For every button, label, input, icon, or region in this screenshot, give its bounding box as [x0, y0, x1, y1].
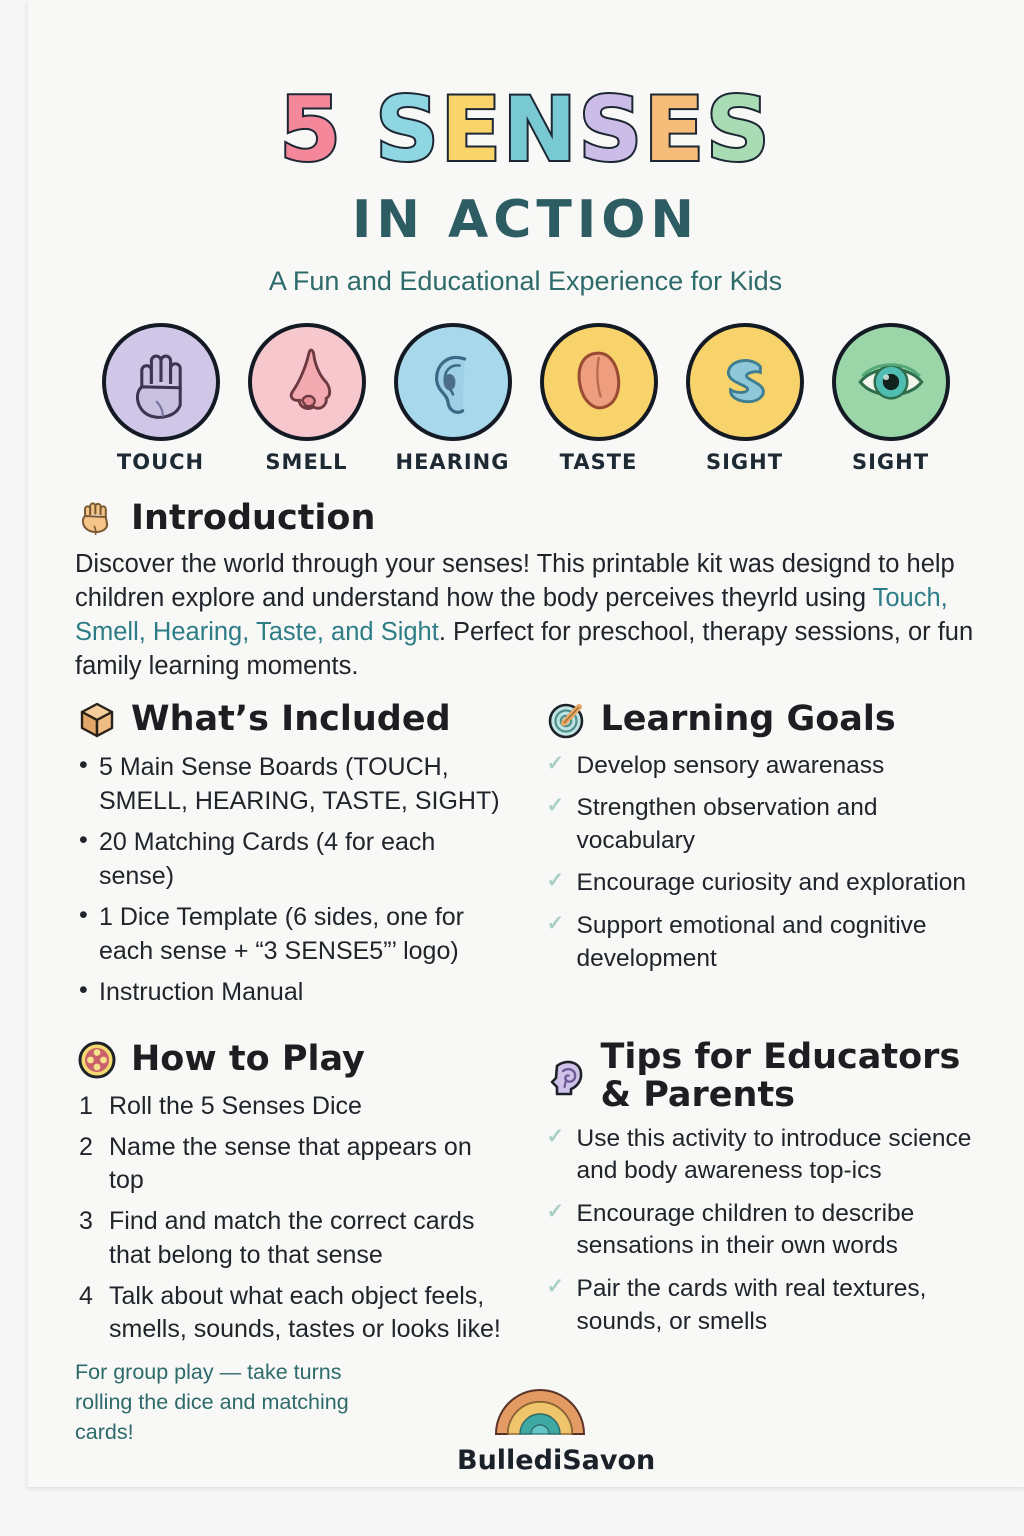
list-item: Roll the 5 Senses Dice	[75, 1090, 507, 1123]
page-title: 5 SENSES	[27, 86, 1024, 174]
sense-item-hearing-2: HEARING	[391, 323, 515, 474]
whats-included-section: What’s Included 5 Main Sense Boards (TOU…	[75, 698, 507, 1016]
brand-name: BullediSavon	[457, 1445, 622, 1476]
box-icon	[75, 698, 119, 742]
sense-item-taste-3: TASTE	[537, 323, 661, 474]
sense-bubble	[832, 323, 950, 441]
whats-included-title: What’s Included	[131, 700, 451, 739]
list-item: Find and match the correct cards that be…	[75, 1205, 507, 1272]
s-swirl-icon	[697, 334, 793, 430]
title-letter-5: E	[644, 86, 706, 174]
head-brain-icon	[545, 1054, 589, 1098]
sense-item-sight-4: SIGHT	[683, 323, 807, 474]
sense-bubble	[102, 323, 220, 441]
learning-goals-title: Learning Goals	[601, 700, 896, 739]
rainbow-icon	[490, 1382, 590, 1438]
sense-label: SIGHT	[829, 450, 953, 474]
sense-label: SIGHT	[683, 450, 807, 474]
tips-header: Tips for Educators & Parents	[545, 1038, 977, 1115]
middle-columns: What’s Included 5 Main Sense Boards (TOU…	[75, 698, 976, 1016]
list-item: Instruction Manual	[75, 975, 507, 1009]
list-item: Develop sensory awarenass	[545, 750, 977, 783]
learning-goals-list: Develop sensory awarenassStrengthen obse…	[545, 750, 977, 975]
senses-row: TOUCHSMELLHEARINGTASTESIGHTSIGHT	[27, 323, 1024, 474]
list-item: Name the sense that appears on top	[75, 1131, 507, 1198]
title-letter-3: N	[503, 86, 579, 174]
sense-item-touch-0: TOUCH	[99, 323, 223, 474]
target-dart-icon	[545, 698, 589, 742]
poster-subtitle: IN ACTION	[27, 190, 1024, 250]
learning-goals-section: Learning Goals Develop sensory awarenass…	[531, 698, 977, 1016]
title-letter-1: S	[375, 86, 440, 174]
hand-icon	[113, 334, 209, 430]
introduction-section: Introduction Discover the world through …	[75, 496, 976, 684]
brand-block: BullediSavon	[457, 1382, 622, 1476]
list-item: Encourage curiosity and exploration	[545, 867, 977, 900]
list-item: 5 Main Sense Boards (TOUCH, SMELL, HEARI…	[75, 750, 507, 818]
sense-bubble	[394, 323, 512, 441]
sense-label: TOUCH	[99, 450, 223, 474]
sense-label: TASTE	[537, 450, 661, 474]
title-letter-2: E	[441, 86, 503, 174]
nose-icon	[259, 334, 355, 430]
sense-bubble	[248, 323, 366, 441]
introduction-text-1: Discover the world through your senses! …	[75, 550, 955, 612]
ear-icon	[405, 334, 501, 430]
list-item: Pair the cards with real textures, sound…	[545, 1273, 977, 1338]
how-to-play-title: How to Play	[131, 1040, 365, 1079]
group-play-note: For group play — take turns rolling the …	[75, 1358, 385, 1447]
dice-pizza-icon	[75, 1038, 119, 1082]
list-item: Strengthen observation and vocabulary	[545, 792, 977, 857]
poster-card: 5 SENSES IN ACTION A Fun and Educational…	[27, 0, 1024, 1487]
how-to-play-header: How to Play	[75, 1038, 507, 1082]
list-item: Talk about what each object feels, smell…	[75, 1280, 507, 1347]
whats-included-list: 5 Main Sense Boards (TOUCH, SMELL, HEARI…	[75, 750, 507, 1009]
introduction-body: Discover the world through your senses! …	[75, 548, 976, 684]
list-item: Encourage children to describe sensation…	[545, 1198, 977, 1263]
list-item: Support emotional and cognitive developm…	[545, 910, 977, 975]
learning-goals-header: Learning Goals	[545, 698, 977, 742]
sense-label: HEARING	[391, 450, 515, 474]
title-space	[343, 86, 376, 174]
how-to-play-steps: Roll the 5 Senses DiceName the sense tha…	[75, 1090, 507, 1347]
list-item: Use this activity to introduce science a…	[545, 1123, 977, 1188]
list-item: 20 Matching Cards (4 for each sense)	[75, 825, 507, 893]
sense-item-sight-5: SIGHT	[829, 323, 953, 474]
eye-icon	[843, 334, 939, 430]
title-letter-6: S	[706, 86, 771, 174]
introduction-title: Introduction	[131, 499, 375, 538]
sense-bubble	[540, 323, 658, 441]
poster-header: 5 SENSES IN ACTION A Fun and Educational…	[27, 0, 1024, 297]
sense-bubble	[686, 323, 804, 441]
tongue-icon	[551, 334, 647, 430]
sense-item-smell-1: SMELL	[245, 323, 369, 474]
sense-label: SMELL	[245, 450, 369, 474]
introduction-header: Introduction	[75, 496, 976, 540]
title-letter-0: 5	[280, 86, 343, 174]
tips-list: Use this activity to introduce science a…	[545, 1123, 977, 1338]
how-to-play-section: How to Play Roll the 5 Senses DiceName t…	[75, 1038, 507, 1448]
raised-hand-icon	[75, 496, 119, 540]
list-item: 1 Dice Template (6 sides, one for each s…	[75, 900, 507, 968]
poster-tagline: A Fun and Educational Experience for Kid…	[27, 266, 1024, 297]
whats-included-header: What’s Included	[75, 698, 507, 742]
tips-title: Tips for Educators & Parents	[601, 1038, 977, 1115]
title-letter-4: S	[579, 86, 644, 174]
